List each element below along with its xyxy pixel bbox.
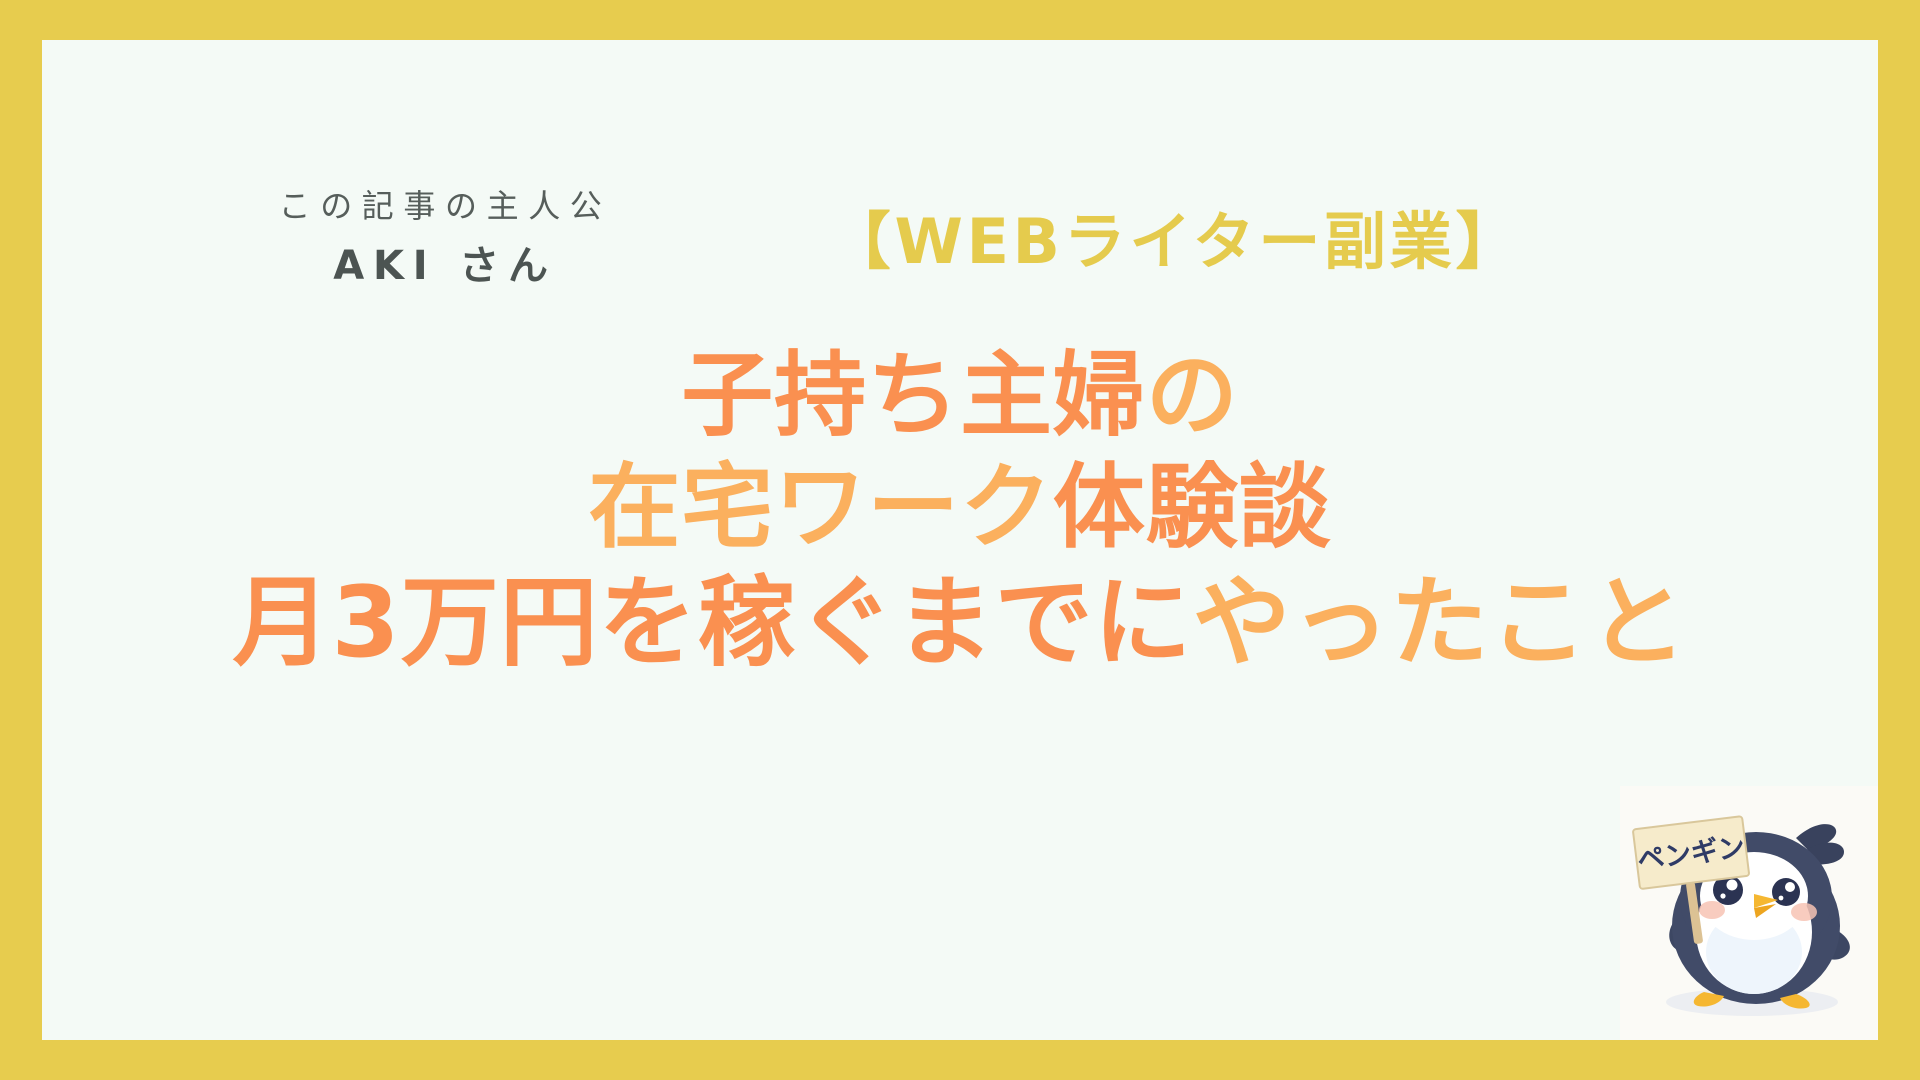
- headline-line-1-main: 子持ち主婦: [681, 342, 1146, 449]
- category-label: 【WEBライター副業】: [42, 208, 1878, 276]
- banner-card: この記事の主人公 AKI さん 【WEBライター副業】 子持ち主婦の 在宅ワーク…: [42, 40, 1878, 1040]
- headline-line-2-part-b: ワーク: [774, 454, 1053, 561]
- headline-line-3-part-c: やったこと: [1193, 566, 1688, 680]
- headline-line-2-part-a: 在宅: [588, 454, 774, 561]
- headline-line-1-suffix: の: [1146, 342, 1239, 449]
- headline-line-3-part-b: を稼ぐまでに: [599, 566, 1193, 680]
- headline-line-3-part-a: 月3万円: [233, 566, 599, 680]
- headline-line-1: 子持ち主婦の: [42, 340, 1878, 452]
- headline-line-3: 月3万円を稼ぐまでにやったこと: [42, 564, 1878, 684]
- headline-block: 子持ち主婦の 在宅ワーク体験談 月3万円を稼ぐまでにやったこと: [42, 340, 1878, 684]
- penguin-mascot-illustration: ペンギン: [1620, 786, 1878, 1040]
- eyecatch-banner: この記事の主人公 AKI さん 【WEBライター副業】 子持ち主婦の 在宅ワーク…: [0, 0, 1920, 1080]
- headline-line-2-part-c: 体験談: [1053, 454, 1332, 561]
- headline-line-2: 在宅ワーク体験談: [42, 452, 1878, 564]
